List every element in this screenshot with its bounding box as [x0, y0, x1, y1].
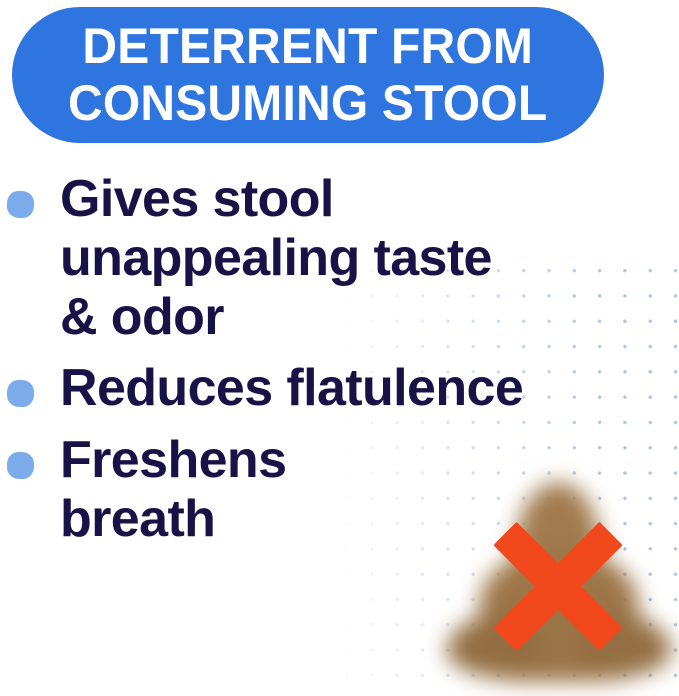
list-item: Freshens breath — [0, 431, 679, 549]
bullet-text-1: Gives stool unappealing taste & odor — [60, 170, 679, 347]
bullet-dot-icon — [7, 380, 34, 407]
list-item: Gives stool unappealing taste & odor — [0, 170, 679, 347]
poop-shade-right — [577, 614, 663, 676]
benefit-bullet-list: Gives stool unappealing taste & odor Red… — [0, 170, 679, 549]
header-title-line-1: DETERRENT FROM — [83, 18, 534, 75]
poop-base-shape — [446, 602, 672, 682]
header-title-line-2: CONSUMING STOOL — [68, 75, 547, 132]
bullet-text-3: Freshens breath — [60, 431, 679, 549]
header-pill-banner: DETERRENT FROM CONSUMING STOOL — [12, 7, 604, 143]
poop-shade-left — [455, 616, 541, 676]
bullet-text-2: Reduces flatulence — [60, 359, 679, 418]
bullet-dot-icon — [7, 191, 34, 218]
list-item: Reduces flatulence — [0, 359, 679, 418]
poop-middle-shape — [479, 548, 639, 634]
infographic-canvas: DETERRENT FROM CONSUMING STOOL Gives sto… — [0, 0, 679, 696]
bullet-dot-icon — [7, 452, 34, 479]
